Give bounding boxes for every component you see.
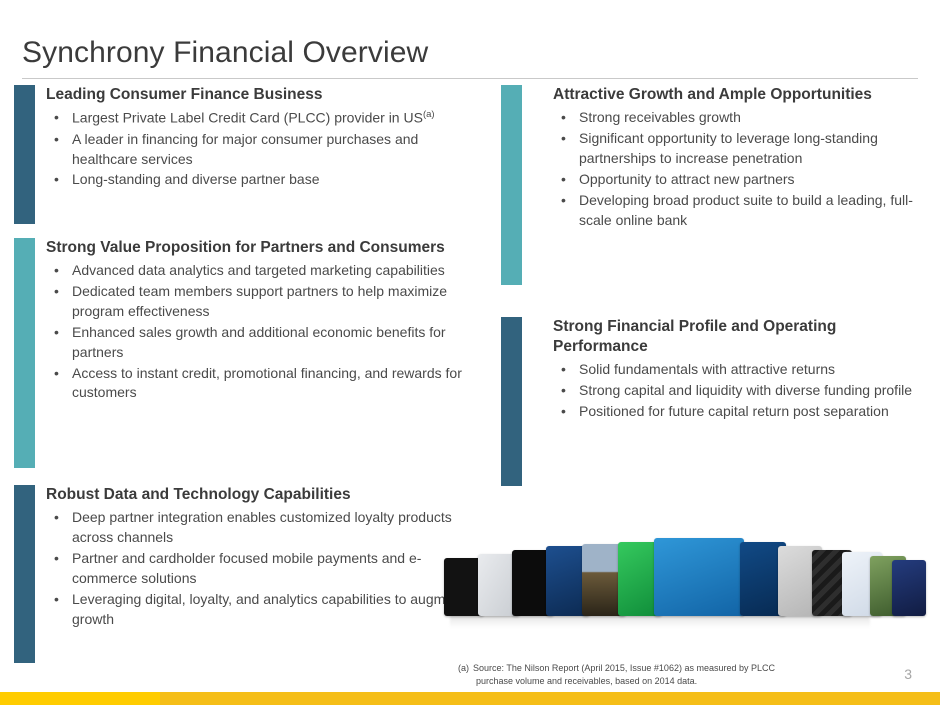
bullet-dot-icon: • — [54, 549, 59, 569]
bullet-list: • Advanced data analytics and targeted m… — [46, 261, 466, 403]
bullet-dot-icon: • — [54, 130, 59, 150]
list-item-text: Leveraging digital, loyalty, and analyti… — [72, 591, 465, 627]
list-item-text: Advanced data analytics and targeted mar… — [72, 262, 445, 278]
section-heading: Leading Consumer Finance Business — [46, 85, 466, 105]
list-item-text: Positioned for future capital return pos… — [579, 403, 889, 419]
footnote-marker-label: (a) — [458, 663, 469, 673]
list-item-text: Opportunity to attract new partners — [579, 171, 795, 187]
accent-bar-teal — [14, 238, 35, 468]
list-item-text: A leader in financing for major consumer… — [72, 131, 418, 167]
list-item: • Access to instant credit, promotional … — [46, 364, 466, 404]
bullet-dot-icon: • — [54, 323, 59, 343]
bullet-dot-icon: • — [54, 108, 59, 128]
list-item: • Enhanced sales growth and additional e… — [46, 323, 466, 363]
footnote: (a)Source: The Nilson Report (April 2015… — [458, 662, 858, 688]
list-item-text: Developing broad product suite to build … — [579, 192, 913, 228]
bottom-bar-right — [160, 692, 940, 705]
list-item: • Leveraging digital, loyalty, and analy… — [46, 590, 476, 630]
footnote-line-2: purchase volume and receivables, based o… — [458, 675, 858, 688]
bullet-dot-icon: • — [54, 508, 59, 528]
credit-card-fan-image — [440, 532, 880, 628]
bullet-dot-icon: • — [54, 364, 59, 384]
list-item-text: Deep partner integration enables customi… — [72, 509, 452, 545]
list-item: • Positioned for future capital return p… — [553, 402, 931, 422]
list-item: • Opportunity to attract new partners — [553, 170, 931, 190]
bullet-dot-icon: • — [561, 191, 566, 211]
section-body: Strong Value Proposition for Partners an… — [46, 238, 466, 404]
section-heading: Attractive Growth and Ample Opportunitie… — [553, 85, 931, 105]
bullet-list: • Solid fundamentals with attractive ret… — [553, 360, 931, 422]
bullet-dot-icon: • — [561, 170, 566, 190]
list-item: • Developing broad product suite to buil… — [553, 191, 931, 231]
list-item: • Significant opportunity to leverage lo… — [553, 129, 931, 169]
bullet-dot-icon: • — [54, 590, 59, 610]
bullet-list: • Largest Private Label Credit Card (PLC… — [46, 108, 466, 190]
list-item-text: Long-standing and diverse partner base — [72, 171, 320, 187]
page-number: 3 — [904, 666, 912, 682]
card-walmart — [654, 538, 744, 616]
list-item: • A leader in financing for major consum… — [46, 130, 466, 170]
footnote-marker: (a) — [423, 109, 435, 120]
bullet-list: • Strong receivables growth • Significan… — [553, 108, 931, 230]
section-heading: Strong Financial Profile and Operating P… — [553, 317, 931, 357]
bullet-dot-icon: • — [54, 282, 59, 302]
list-item-text: Enhanced sales growth and additional eco… — [72, 324, 446, 360]
card-fan-reflection — [450, 614, 870, 628]
bullet-dot-icon: • — [54, 170, 59, 190]
section-body: Attractive Growth and Ample Opportunitie… — [553, 85, 931, 231]
bullet-dot-icon: • — [54, 261, 59, 281]
list-item: • Long-standing and diverse partner base — [46, 170, 466, 190]
list-item-text: Strong capital and liquidity with divers… — [579, 382, 912, 398]
list-item-text: Dedicated team members support partners … — [72, 283, 447, 319]
list-item-text: Significant opportunity to leverage long… — [579, 130, 878, 166]
list-item-text: Largest Private Label Credit Card (PLCC)… — [72, 110, 423, 126]
section-heading: Robust Data and Technology Capabilities — [46, 485, 476, 505]
list-item-text: Partner and cardholder focused mobile pa… — [72, 550, 421, 586]
list-item: • Advanced data analytics and targeted m… — [46, 261, 466, 281]
list-item-text: Strong receivables growth — [579, 109, 741, 125]
list-item: • Strong receivables growth — [553, 108, 931, 128]
accent-bar-teal — [501, 85, 522, 285]
list-item: • Partner and cardholder focused mobile … — [46, 549, 476, 589]
list-item: • Dedicated team members support partner… — [46, 282, 466, 322]
section-body: Strong Financial Profile and Operating P… — [553, 317, 931, 423]
card-visa — [892, 560, 926, 616]
section-body: Leading Consumer Finance Business • Larg… — [46, 85, 466, 191]
section-body: Robust Data and Technology Capabilities … — [46, 485, 476, 630]
bullet-dot-icon: • — [561, 129, 566, 149]
bullet-dot-icon: • — [561, 402, 566, 422]
accent-bar-dark — [501, 317, 522, 486]
section-heading: Strong Value Proposition for Partners an… — [46, 238, 466, 258]
list-item: • Largest Private Label Credit Card (PLC… — [46, 108, 466, 129]
title-divider — [22, 78, 918, 79]
bottom-bar-left — [0, 692, 160, 705]
list-item-text: Access to instant credit, promotional fi… — [72, 365, 462, 401]
accent-bar-dark — [14, 485, 35, 663]
list-item: • Deep partner integration enables custo… — [46, 508, 476, 548]
list-item: • Strong capital and liquidity with dive… — [553, 381, 931, 401]
bullet-dot-icon: • — [561, 108, 566, 128]
bullet-dot-icon: • — [561, 360, 566, 380]
footnote-line-1: Source: The Nilson Report (April 2015, I… — [473, 663, 775, 673]
list-item: • Solid fundamentals with attractive ret… — [553, 360, 931, 380]
bullet-list: • Deep partner integration enables custo… — [46, 508, 476, 629]
page-title: Synchrony Financial Overview — [22, 36, 428, 70]
list-item-text: Solid fundamentals with attractive retur… — [579, 361, 835, 377]
accent-bar-dark — [14, 85, 35, 224]
bullet-dot-icon: • — [561, 381, 566, 401]
